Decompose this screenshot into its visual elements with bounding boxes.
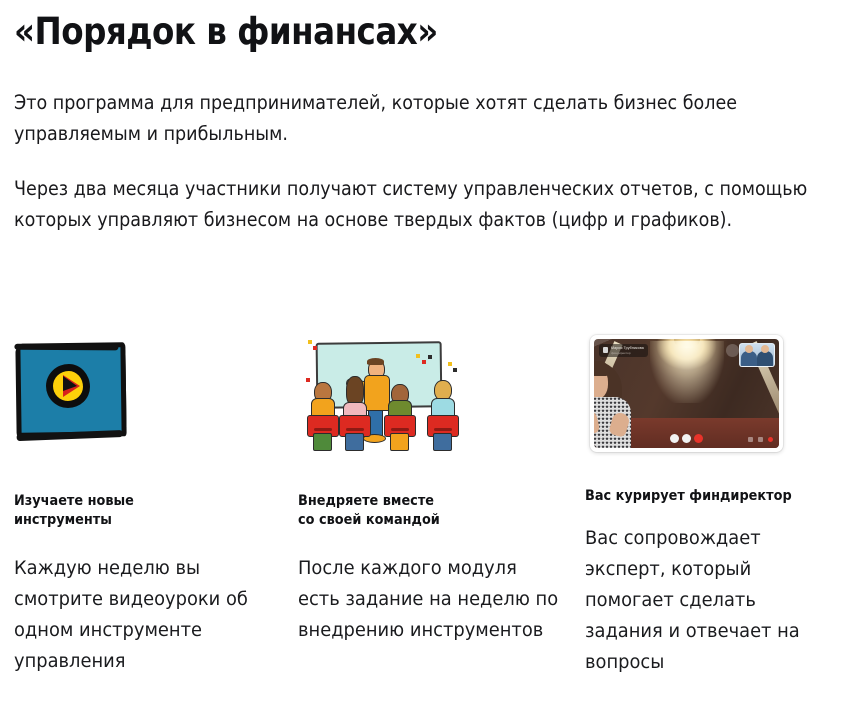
page-root: «Порядок в финансах» Это программа для п… <box>0 0 854 717</box>
mic-button[interactable] <box>670 434 679 443</box>
picture-in-picture-video[interactable] <box>739 343 775 367</box>
video-call-screenshot: Мария Трубникова финдиректор <box>590 335 783 452</box>
lamp-glow-shape <box>650 341 724 403</box>
sparkle-icon <box>422 360 426 364</box>
sparkle-icon <box>306 378 310 382</box>
feature-body-1: Каждую неделю вы смотрите видеоуроки об … <box>14 553 270 677</box>
end-call-button[interactable] <box>694 434 703 443</box>
intro-block: «Порядок в финансах» Это программа для п… <box>0 0 854 235</box>
pip-toggle-button[interactable] <box>726 344 739 357</box>
feature-column-2: Внедряете вместе со своей командой После… <box>290 330 575 646</box>
chat-icon[interactable] <box>758 437 763 442</box>
sparkle-icon <box>428 355 432 359</box>
feature-body-2: После каждого модуля есть задание на нед… <box>298 553 563 646</box>
feature-figure-2 <box>298 330 575 460</box>
feature-heading-2: Внедряете вместе со своей командой <box>298 492 553 530</box>
camera-button[interactable] <box>682 434 691 443</box>
classroom-team-icon <box>302 334 478 454</box>
sparkle-icon <box>308 340 312 344</box>
sparkle-icon <box>453 368 457 372</box>
sparkle-icon <box>416 354 420 358</box>
video-call-screen: Мария Трубникова финдиректор <box>594 339 779 448</box>
student-legs-shape <box>433 433 452 451</box>
mic-icon <box>603 347 608 353</box>
student-legs-shape <box>345 433 364 451</box>
teacher-hair-shape <box>367 358 384 365</box>
feature-column-1: Изучаете новые инструменты Каждую неделю… <box>0 330 290 677</box>
feature-figure-1 <box>14 330 290 460</box>
feature-figure-3: Мария Трубникова финдиректор <box>585 330 854 460</box>
feature-heading-3: Вас курирует финдиректор <box>585 487 832 506</box>
play-triangle-icon <box>63 375 80 397</box>
call-secondary-controls[interactable] <box>748 437 773 442</box>
close-icon[interactable]: × <box>600 436 606 442</box>
record-icon[interactable] <box>768 437 773 442</box>
participant-role-label: финдиректор <box>611 351 644 355</box>
call-controls[interactable] <box>670 434 703 443</box>
video-player-icon <box>14 338 121 435</box>
pip-participant-shape <box>757 351 773 366</box>
page-title: «Порядок в финансах» <box>14 0 767 54</box>
intro-paragraph-2: Через два месяца участники получают сист… <box>14 149 854 235</box>
participant-name-label: Мария Трубникова <box>611 346 644 351</box>
intro-paragraph-1: Это программа для предпринимателей, кото… <box>14 54 854 149</box>
sparkle-icon <box>313 346 317 350</box>
feature-heading-1: Изучаете новые инструменты <box>14 492 268 530</box>
feature-column-3: Мария Трубникова финдиректор <box>575 330 854 678</box>
teacher-body-shape <box>364 375 390 411</box>
feature-body-3: Вас сопровождает эксперт, который помога… <box>585 523 828 678</box>
features-columns: Изучаете новые инструменты Каждую неделю… <box>0 330 854 678</box>
participant-name-badge: Мария Трубникова финдиректор <box>599 344 648 357</box>
share-icon[interactable] <box>748 437 753 442</box>
student-legs-shape <box>390 433 409 451</box>
pip-participant-shape <box>741 351 757 366</box>
sparkle-icon <box>448 362 452 366</box>
student-legs-shape <box>313 433 332 451</box>
